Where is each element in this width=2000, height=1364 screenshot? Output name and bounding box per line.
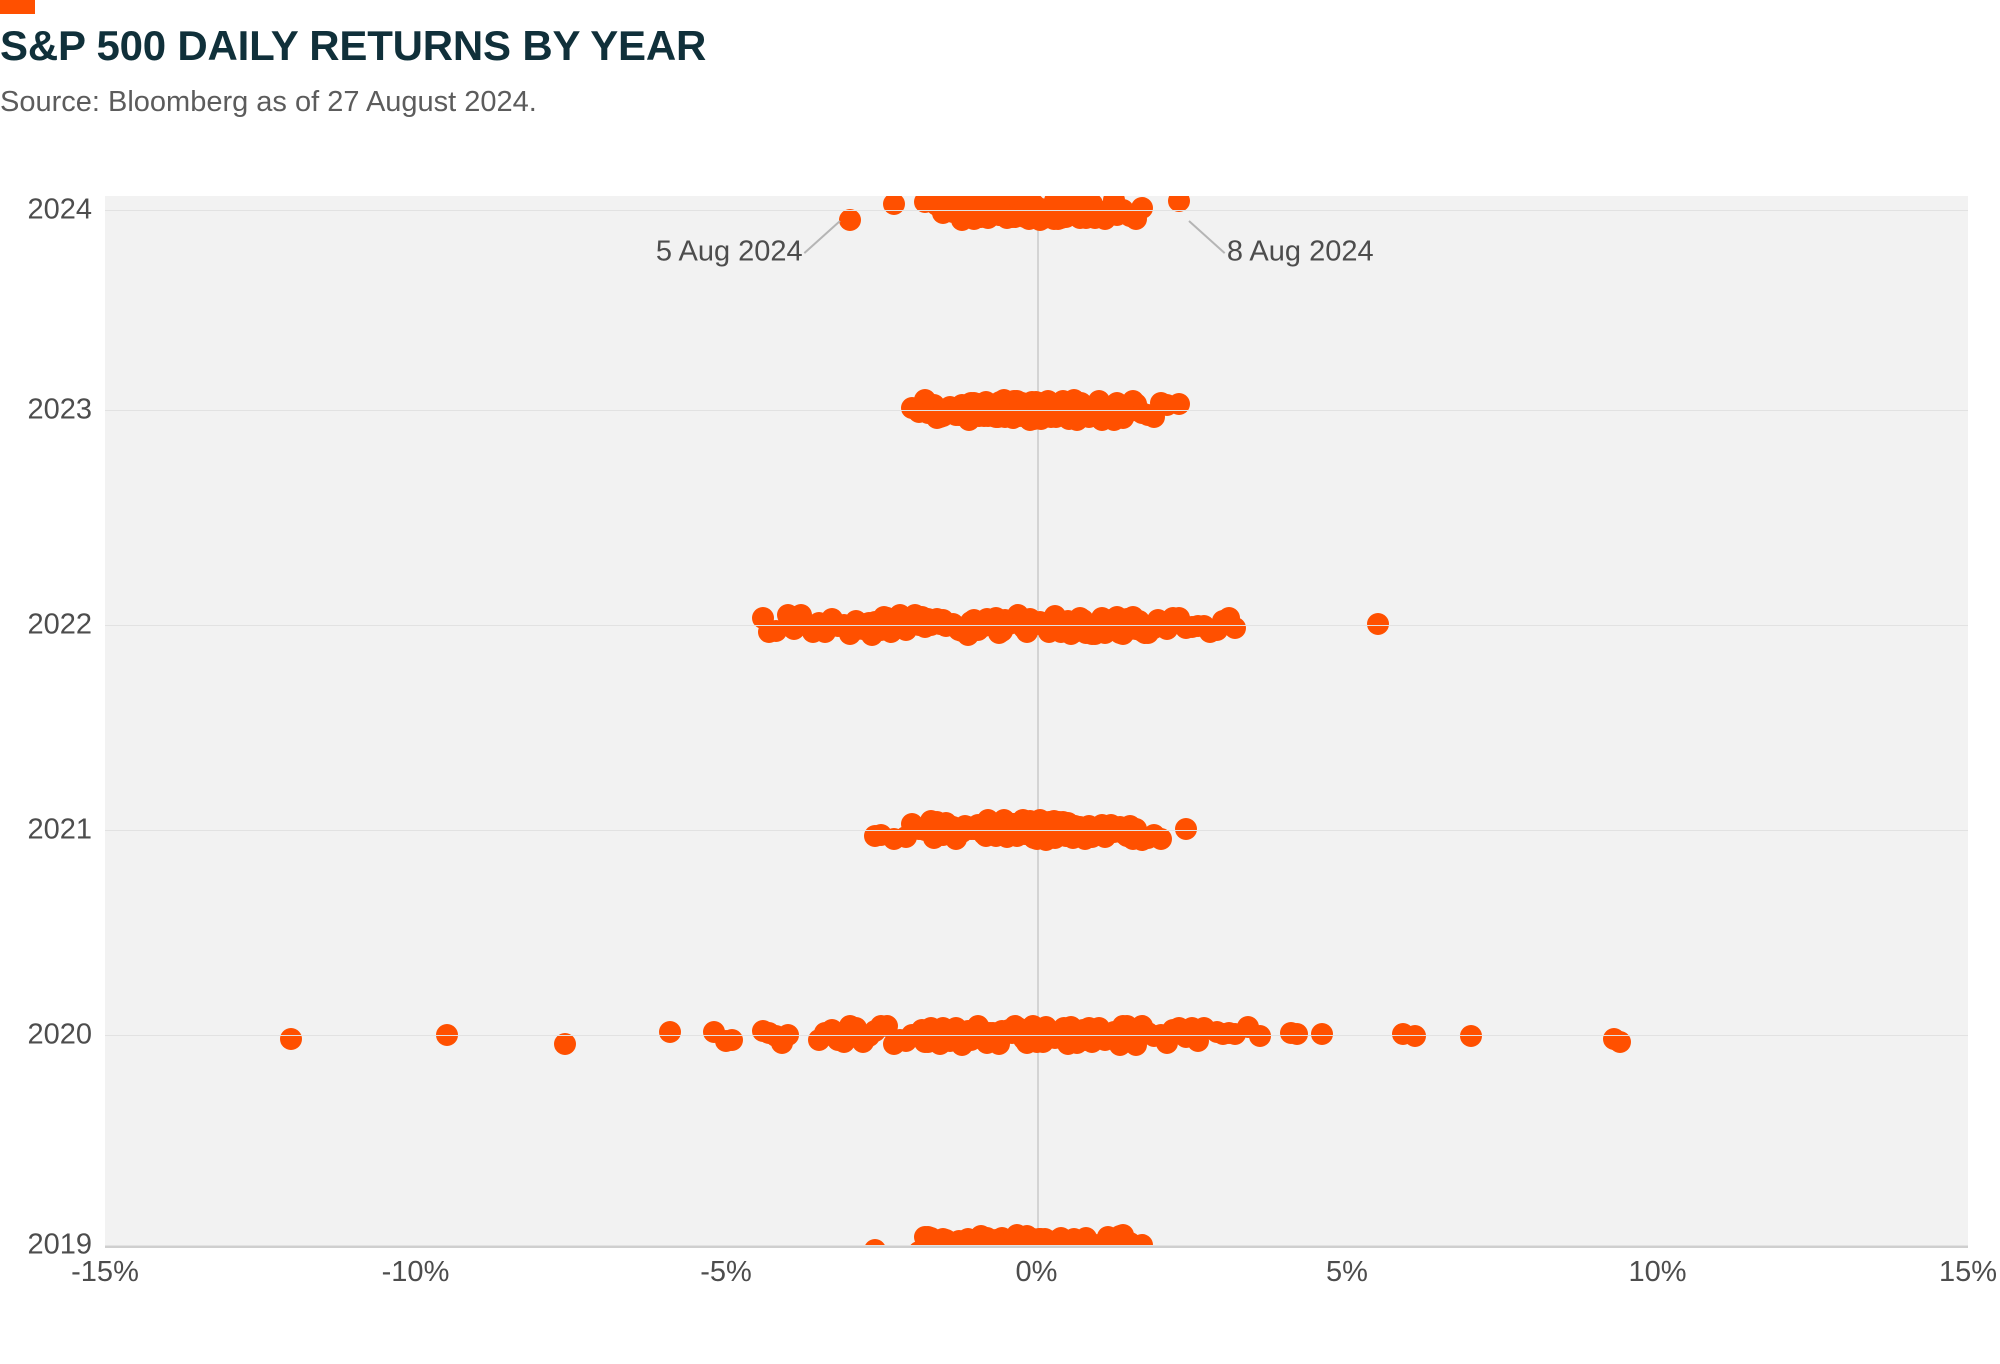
data-point xyxy=(280,1028,302,1050)
data-point xyxy=(1168,393,1190,415)
data-point xyxy=(883,196,905,215)
data-point xyxy=(839,209,861,231)
data-point xyxy=(554,1033,576,1055)
page-title: S&P 500 DAILY RETURNS BY YEAR xyxy=(0,22,706,70)
x-axis-label-neg15pct: -15% xyxy=(71,1256,139,1289)
data-point xyxy=(659,1021,681,1043)
data-point xyxy=(721,1029,743,1051)
annotation-label: 8 Aug 2024 xyxy=(1227,236,1374,269)
x-axis-label-5pct: 5% xyxy=(1326,1256,1368,1289)
data-point xyxy=(1224,617,1246,639)
y-axis-label-2024: 2024 xyxy=(27,194,92,227)
brand-accent-bar xyxy=(0,0,35,14)
data-point xyxy=(1609,1031,1631,1053)
row-gridline-2022 xyxy=(105,625,1968,626)
y-axis-label-2021: 2021 xyxy=(27,814,92,847)
x-axis-label-15pct: 15% xyxy=(1939,1256,1997,1289)
data-point xyxy=(1131,197,1153,219)
x-axis-label-10pct: 10% xyxy=(1628,1256,1686,1289)
row-gridline-2023 xyxy=(105,410,1968,411)
plot-area xyxy=(105,196,1968,1246)
x-axis-label-neg10pct: -10% xyxy=(382,1256,450,1289)
data-point xyxy=(1311,1023,1333,1045)
data-point xyxy=(1249,1025,1271,1047)
row-gridline-2020 xyxy=(105,1035,1968,1036)
y-axis-label-2020: 2020 xyxy=(27,1019,92,1052)
y-axis-label-2023: 2023 xyxy=(27,394,92,427)
plot-inner xyxy=(105,196,1968,1246)
row-gridline-2024 xyxy=(105,210,1968,211)
annotation-label: 5 Aug 2024 xyxy=(656,236,803,269)
data-point xyxy=(1404,1025,1426,1047)
data-point xyxy=(1286,1023,1308,1045)
chart-source-subtitle: Source: Bloomberg as of 27 August 2024. xyxy=(0,86,537,119)
x-axis-line xyxy=(105,1246,1968,1248)
row-gridline-2021 xyxy=(105,830,1968,831)
y-axis-label-2022: 2022 xyxy=(27,609,92,642)
zero-gridline xyxy=(1037,196,1039,1246)
x-axis-label-0pct: 0% xyxy=(1016,1256,1058,1289)
chart-page: S&P 500 DAILY RETURNS BY YEAR Source: Bl… xyxy=(0,0,2000,1364)
data-point xyxy=(1367,613,1389,635)
x-axis-label-neg5pct: -5% xyxy=(700,1256,752,1289)
